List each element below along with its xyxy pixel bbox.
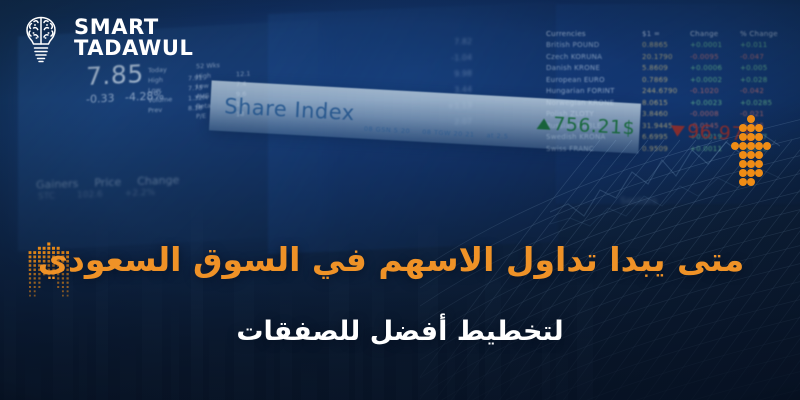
arrow-dot (755, 124, 763, 132)
arrow-dot (747, 160, 755, 168)
tower-dot (29, 282, 31, 284)
arrow-dot (755, 142, 763, 150)
tower-dot (38, 282, 40, 284)
tower-dot (38, 286, 40, 288)
tower-dot (67, 295, 69, 297)
tower-dot (57, 282, 59, 284)
arrow-dot (747, 142, 755, 150)
tower-dot (62, 282, 64, 284)
brain-lightbulb-icon (18, 12, 64, 64)
brand-name: SMART TADAWUL (74, 17, 194, 60)
arrow-dot (755, 151, 763, 159)
page-title: متى يبدا تداول الاسهم في السوق السعودي (0, 240, 800, 279)
page-subtitle: لتخطيط أفضل للصفقات (0, 316, 800, 347)
tower-dot (29, 286, 31, 288)
arrow-dot (747, 169, 755, 177)
arrow-dot (755, 169, 763, 177)
tower-dot (62, 290, 64, 292)
dotted-up-arrow-icon (728, 112, 774, 190)
tower-dot (57, 286, 59, 288)
arrow-dot (739, 169, 747, 177)
promo-banner: 7.85 -0.33 -4.28% Today High7.91 Low7.73… (0, 0, 800, 400)
arrow-dot (747, 124, 755, 132)
arrow-dot (747, 151, 755, 159)
tower-dot (67, 286, 69, 288)
arrow-dot (755, 133, 763, 141)
tower-dot (34, 295, 36, 297)
arrow-dot (739, 160, 747, 168)
tower-dot (34, 286, 36, 288)
arrow-dot (739, 142, 747, 150)
brand-name-line2: TADAWUL (74, 38, 194, 59)
tower-dot (34, 290, 36, 292)
arrow-dot (731, 142, 739, 150)
tower-dot (34, 282, 36, 284)
tower-dot (62, 295, 64, 297)
arrow-dot (747, 133, 755, 141)
arrow-dot (747, 178, 755, 186)
arrow-dot (747, 115, 755, 123)
tower-dot (29, 295, 31, 297)
tower-dot (67, 282, 69, 284)
arrow-dot (739, 151, 747, 159)
arrow-dot (739, 178, 747, 186)
tower-dot (67, 290, 69, 292)
tower-dot (62, 286, 64, 288)
arrow-dot (763, 142, 771, 150)
brand-logo[interactable]: SMART TADAWUL (18, 12, 194, 64)
brand-name-line1: SMART (74, 17, 194, 38)
arrow-dot (739, 133, 747, 141)
tower-dot (29, 290, 31, 292)
arrow-dot (755, 160, 763, 168)
arrow-dot (739, 124, 747, 132)
